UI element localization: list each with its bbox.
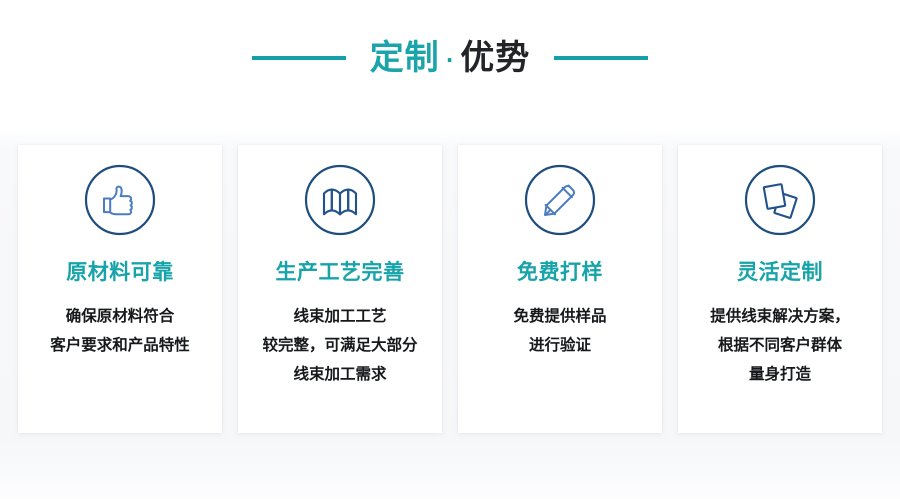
folded-map-icon	[304, 164, 376, 236]
page-title: 定制 · 优势	[370, 41, 531, 75]
card-title: 免费打样	[517, 262, 603, 283]
card-body-line: 客户要求和产品特性	[22, 331, 218, 360]
card-body-line: 线束加工需求	[242, 360, 438, 389]
advantage-card[interactable]: 灵活定制 提供线束解决方案， 根据不同客户群体 量身打造	[678, 145, 882, 433]
header-rule-right	[554, 56, 648, 60]
header-rule-left	[252, 56, 346, 60]
card-body-line: 线束加工工艺	[242, 302, 438, 331]
pencil-icon	[524, 164, 596, 236]
advantage-card[interactable]: 生产工艺完善 线束加工工艺 较完整，可满足大部分 线束加工需求	[238, 145, 442, 433]
card-body-line: 根据不同客户群体	[682, 331, 878, 360]
page-title-main: 优势	[460, 41, 530, 75]
page-title-accent: 定制	[370, 41, 440, 75]
card-body-line: 提供线束解决方案，	[682, 302, 878, 331]
page-title-separator: ·	[446, 50, 455, 70]
stacked-cards-icon	[744, 164, 816, 236]
card-body-line: 较完整，可满足大部分	[242, 331, 438, 360]
thumbs-up-icon	[84, 164, 156, 236]
card-body: 线束加工工艺 较完整，可满足大部分 线束加工需求	[242, 302, 438, 389]
card-body: 免费提供样品 进行验证	[462, 302, 658, 360]
card-body: 提供线束解决方案， 根据不同客户群体 量身打造	[682, 302, 878, 389]
card-title: 生产工艺完善	[276, 262, 405, 283]
card-title: 灵活定制	[737, 262, 823, 283]
advantage-card-list: 原材料可靠 确保原材料符合 客户要求和产品特性 生产工艺完善	[18, 145, 882, 433]
card-body-line: 进行验证	[462, 331, 658, 360]
section-header: 定制 · 优势	[0, 30, 900, 86]
card-body-line: 免费提供样品	[462, 302, 658, 331]
card-body: 确保原材料符合 客户要求和产品特性	[22, 302, 218, 360]
card-title: 原材料可靠	[66, 262, 174, 283]
advantage-card[interactable]: 免费打样 免费提供样品 进行验证	[458, 145, 662, 433]
advantages-section: 定制 · 优势 原材料可靠 确保原材料符合 客户要求和产品特性	[0, 0, 900, 499]
advantage-card[interactable]: 原材料可靠 确保原材料符合 客户要求和产品特性	[18, 145, 222, 433]
card-body-line: 量身打造	[682, 360, 878, 389]
card-body-line: 确保原材料符合	[22, 302, 218, 331]
